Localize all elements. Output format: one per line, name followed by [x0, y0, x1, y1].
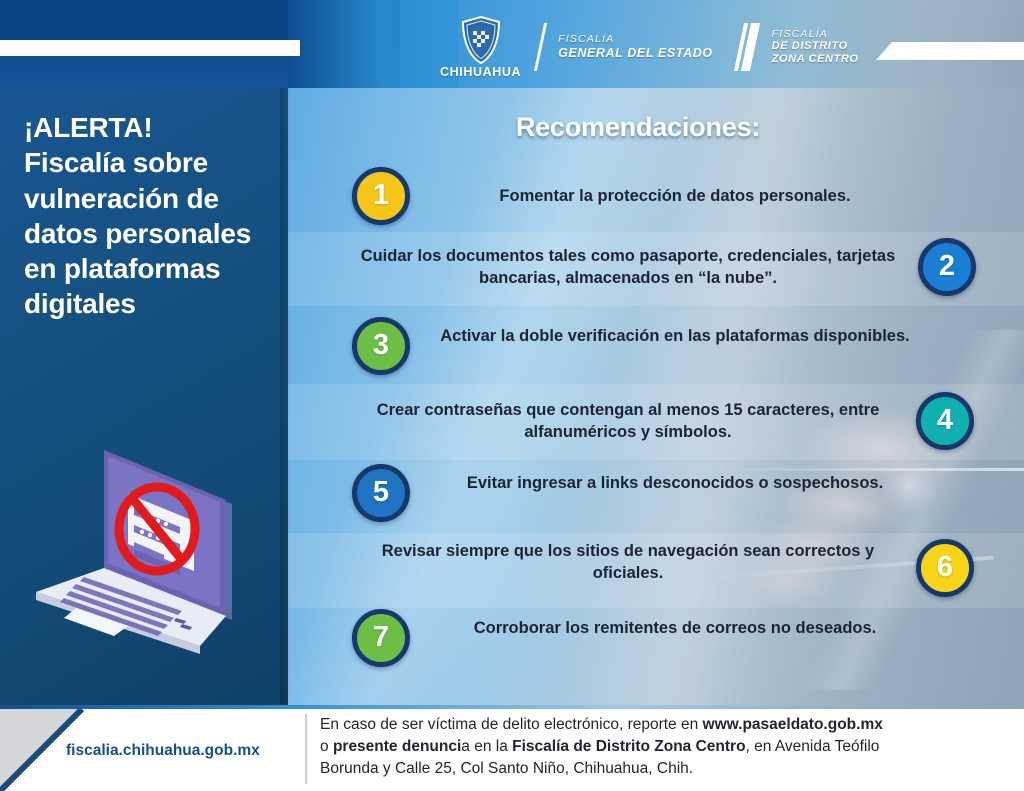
- recommendation-number-3: 3: [373, 331, 389, 360]
- pasaeldato-url[interactable]: www.pasaeldato.gob.mx: [703, 716, 883, 733]
- header-white-stripe-left: [0, 40, 300, 56]
- shield-icon: [461, 16, 501, 64]
- recommendation-badge-3: 3: [352, 317, 410, 375]
- fiscalia-general-line1: FISCALÍA: [558, 33, 713, 45]
- recommendation-number-6: 6: [937, 553, 953, 582]
- recommendation-text-1: Fomentar la protección de datos personal…: [430, 186, 920, 208]
- alert-body: Fiscalía sobre vulneración de datos pers…: [24, 147, 251, 319]
- bars-divider-icon: [734, 23, 763, 71]
- footer-notice: En caso de ser víctima de delito electró…: [320, 714, 1010, 780]
- header-fade: [288, 0, 458, 88]
- recommendation-number-4: 4: [937, 406, 953, 435]
- header-white-stripe-right: [876, 42, 1024, 60]
- footer-line1-a: En caso de ser víctima de delito electró…: [320, 716, 703, 733]
- logo-row: CHIHUAHUA FISCALÍA GENERAL DEL ESTADO FI…: [440, 14, 859, 80]
- left-panel-edge-shadow: [280, 88, 290, 705]
- recommendation-text-5: Evitar ingresar a links desconocidos o s…: [430, 473, 920, 495]
- fiscalia-distrito-line1: FISCALÍA: [772, 28, 859, 40]
- recommendation-badge-2: 2: [918, 238, 976, 296]
- recommendation-badge-7: 7: [352, 609, 410, 667]
- footer-line2-e: , en Avenida Teófilo: [746, 738, 880, 755]
- footer-line3: Borunda y Calle 25, Col Santo Niño, Chih…: [320, 760, 693, 777]
- recommendation-number-2: 2: [939, 252, 955, 281]
- page-title: ¡ALERTA! Fiscalía sobre vulneración de d…: [24, 110, 276, 322]
- recommendation-number-1: 1: [373, 181, 389, 210]
- footer-divider: [305, 714, 307, 784]
- recommendation-text-6: Revisar siempre que los sitios de navega…: [352, 541, 904, 585]
- infographic-poster: CHIHUAHUA FISCALÍA GENERAL DEL ESTADO FI…: [0, 0, 1024, 791]
- footer-top-rule: [0, 705, 1024, 709]
- footer-line2-a: o: [320, 738, 333, 755]
- footer-line2-c: a en la: [461, 738, 512, 755]
- recommendation-text-7: Corroborar los remitentes de correos no …: [430, 618, 920, 640]
- fiscalia-distrito-logo: FISCALÍA DE DISTRITO ZONA CENTRO: [772, 28, 859, 66]
- recommendation-badge-4: 4: [916, 392, 974, 450]
- fiscalia-distrito-line3: ZONA CENTRO: [772, 53, 859, 66]
- fiscalia-general-line2: GENERAL DEL ESTADO: [558, 46, 713, 61]
- recommendation-text-3: Activar la doble verificación en las pla…: [430, 326, 920, 348]
- recommendation-number-7: 7: [373, 623, 389, 652]
- emblem-label: CHIHUAHUA: [440, 65, 521, 79]
- fiscalia-general-logo: FISCALÍA GENERAL DEL ESTADO: [558, 33, 713, 60]
- recommendation-badge-6: 6: [916, 539, 974, 597]
- fiscalia-distrito-line2: DE DISTRITO: [772, 40, 859, 53]
- footer-line2-b: presente denunci: [333, 738, 461, 755]
- footer-line2-d: Fiscalía de Distrito Zona Centro: [512, 738, 745, 755]
- recommendation-badge-5: 5: [352, 464, 410, 522]
- recommendation-text-4: Crear contraseñas que contengan al menos…: [352, 400, 904, 444]
- recommendation-number-5: 5: [373, 478, 389, 507]
- alert-word: ¡ALERTA!: [24, 110, 276, 145]
- header-band: CHIHUAHUA FISCALÍA GENERAL DEL ESTADO FI…: [0, 0, 1024, 88]
- recommendations-heading: Recomendaciones:: [288, 112, 988, 143]
- logo-divider-icon: [534, 23, 547, 71]
- fiscalia-website-link[interactable]: fiscalia.chihuahua.gob.mx: [66, 742, 260, 760]
- laptop-blocked-data-icon: [24, 432, 274, 678]
- recommendation-text-2: Cuidar los documentos tales como pasapor…: [352, 246, 904, 290]
- chihuahua-emblem: CHIHUAHUA: [440, 16, 521, 79]
- recommendation-badge-1: 1: [352, 167, 410, 225]
